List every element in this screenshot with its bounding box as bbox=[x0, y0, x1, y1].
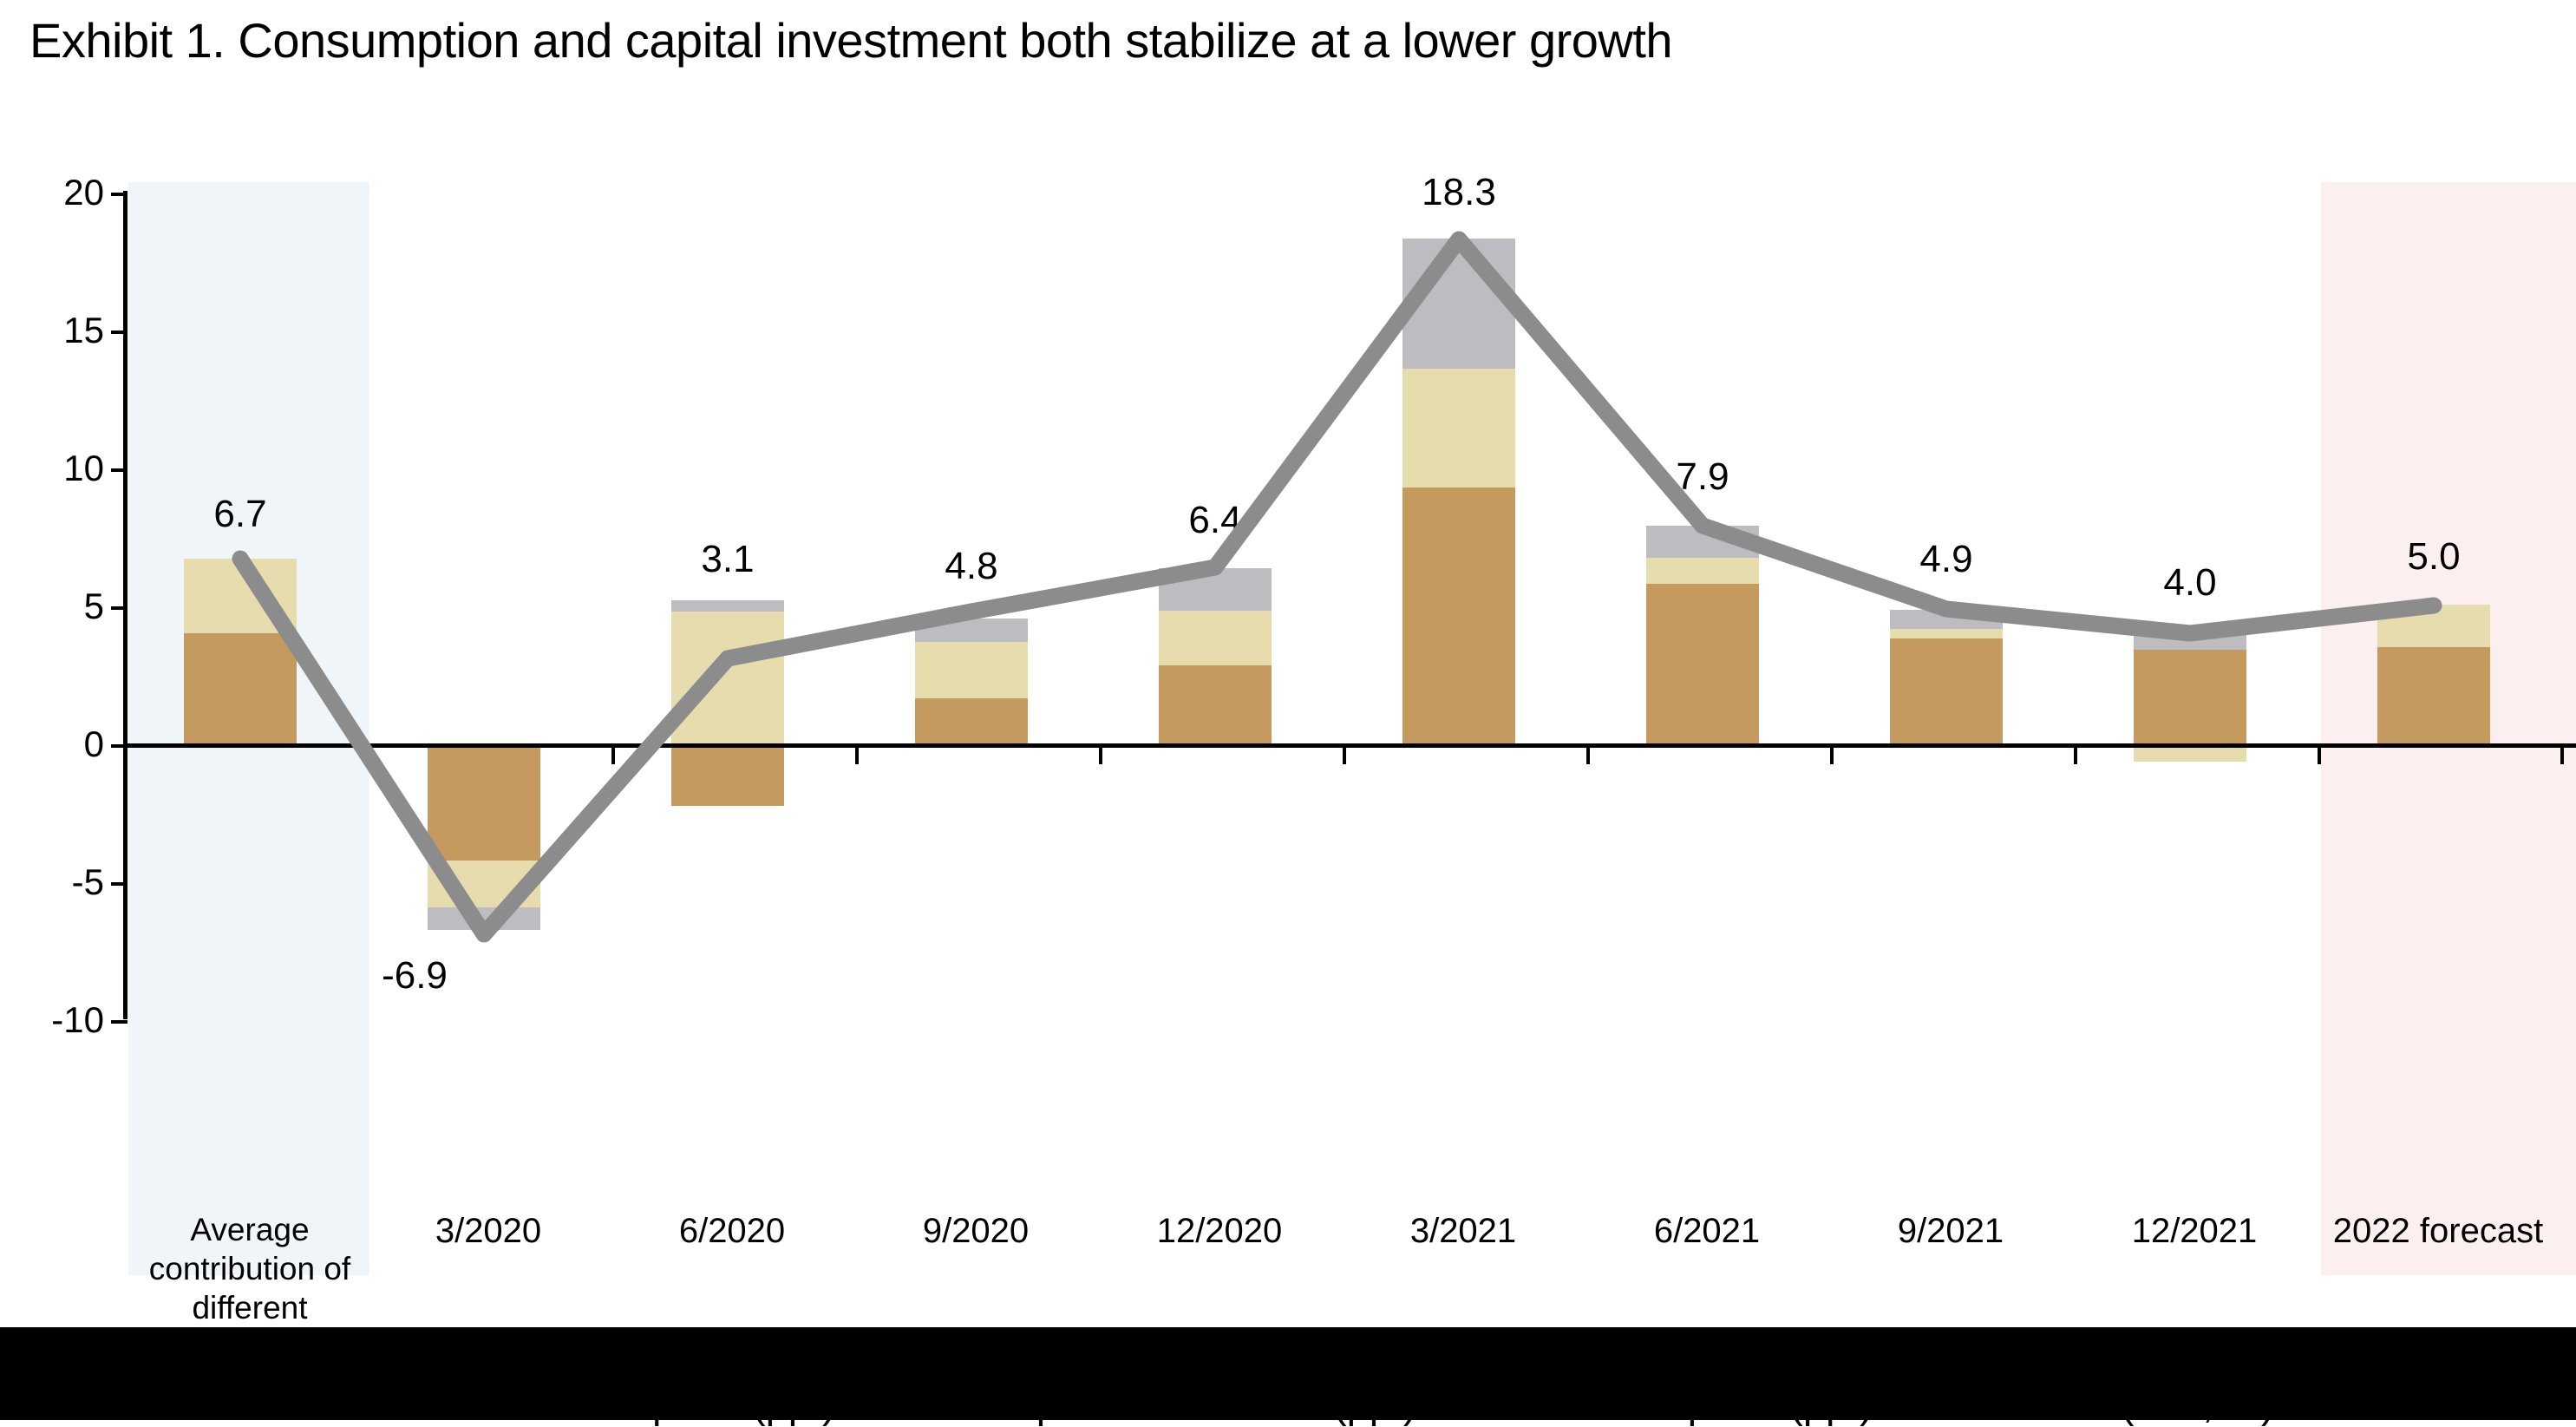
y-tick-10 bbox=[111, 468, 127, 472]
bar-segment-consumption bbox=[1890, 638, 2003, 743]
x-axis-label-5: 3/2021 bbox=[1355, 1210, 1572, 1253]
x-tick-2 bbox=[855, 748, 859, 764]
bar-segment-consumption bbox=[2377, 647, 2490, 743]
y-axis-label-0: 0 bbox=[0, 723, 104, 765]
bar-segment-consumption bbox=[1159, 665, 1272, 743]
x-tick-7 bbox=[2074, 748, 2077, 764]
x-tick-4 bbox=[1343, 748, 1346, 764]
data-label-6: 7.9 bbox=[1633, 455, 1772, 499]
bar-segment-net-exports bbox=[1159, 568, 1272, 611]
bar-segment-capital-investment bbox=[1890, 629, 2003, 638]
data-label-0: 6.7 bbox=[171, 493, 310, 536]
data-label-7: 4.9 bbox=[1877, 538, 2016, 581]
bar-segment-net-exports bbox=[1646, 526, 1759, 558]
y-axis-label-20: 20 bbox=[0, 172, 104, 213]
y-tick-15 bbox=[111, 331, 127, 334]
data-label-8: 4.0 bbox=[2121, 561, 2259, 605]
bar-segment-capital-investment bbox=[671, 612, 784, 743]
x-tick-6 bbox=[1830, 748, 1834, 764]
x-tick-1 bbox=[611, 748, 615, 764]
x-axis-label-7: 9/2021 bbox=[1842, 1210, 2059, 1253]
y-axis-label-15: 15 bbox=[0, 310, 104, 351]
bar-segment-capital-investment bbox=[1646, 558, 1759, 584]
x-axis-label-1: 3/2020 bbox=[380, 1210, 597, 1253]
bar-segment-net-exports bbox=[915, 619, 1028, 642]
x-tick-0 bbox=[368, 748, 371, 764]
y-axis-label-neg5: -5 bbox=[0, 861, 104, 903]
data-label-9: 5.0 bbox=[2364, 535, 2503, 579]
bar-segment-consumption bbox=[184, 633, 297, 743]
chart-page: Exhibit 1. Consumption and capital inves… bbox=[0, 0, 2576, 1420]
y-tick-20 bbox=[111, 193, 127, 196]
x-axis-label-2: 6/2020 bbox=[624, 1210, 840, 1253]
x-tick-3 bbox=[1099, 748, 1102, 764]
bar-segment-capital-investment bbox=[1402, 369, 1515, 488]
bar-segment-capital-investment bbox=[428, 861, 540, 907]
bar-segment-consumption bbox=[915, 698, 1028, 743]
y-axis-label-5: 5 bbox=[0, 586, 104, 627]
x-axis-label-3: 9/2020 bbox=[867, 1210, 1084, 1253]
page-title: Exhibit 1. Consumption and capital inves… bbox=[29, 12, 2024, 69]
data-label-5: 18.3 bbox=[1385, 171, 1533, 214]
bar-segment-consumption bbox=[1402, 488, 1515, 743]
x-axis-label-4: 12/2020 bbox=[1111, 1210, 1328, 1253]
bar-segment-capital-investment bbox=[184, 559, 297, 633]
y-tick-neg5 bbox=[111, 882, 127, 886]
bar-segment-capital-investment bbox=[1159, 611, 1272, 665]
bar-segment-consumption bbox=[671, 748, 784, 806]
y-axis-label-10: 10 bbox=[0, 448, 104, 489]
bar-segment-net-exports bbox=[1890, 610, 2003, 629]
x-tick-9 bbox=[2560, 748, 2564, 764]
bar-segment-consumption bbox=[2134, 650, 2246, 743]
y-axis-line bbox=[123, 191, 127, 1019]
x-tick-5 bbox=[1586, 748, 1590, 764]
data-label-4: 6.4 bbox=[1146, 499, 1285, 542]
data-label-3: 4.8 bbox=[902, 545, 1041, 588]
bar-segment-net-exports bbox=[1402, 239, 1515, 369]
x-axis-label-8: 12/2021 bbox=[2086, 1210, 2303, 1253]
bar-segment-net-exports bbox=[2134, 625, 2246, 650]
bar-segment-consumption bbox=[1646, 584, 1759, 743]
data-label-2: 3.1 bbox=[658, 538, 797, 581]
bar-segment-capital-investment bbox=[2134, 748, 2246, 762]
x-axis-label-6: 6/2021 bbox=[1599, 1210, 1815, 1253]
y-tick-neg10 bbox=[111, 1020, 127, 1024]
bottom-bar bbox=[0, 1327, 2576, 1420]
x-axis-label-9: 2022 forecast bbox=[2330, 1210, 2547, 1253]
bar-segment-capital-investment bbox=[2377, 605, 2490, 647]
bar-segment-net-exports bbox=[428, 907, 540, 930]
data-label-1: -6.9 bbox=[345, 954, 484, 998]
y-axis-label-neg10: -10 bbox=[0, 999, 104, 1041]
chart-plot-area: 20 15 10 5 0 -5 -10 6.7 -6.9 3.1 bbox=[0, 182, 2576, 1310]
x-tick-8 bbox=[2318, 748, 2321, 764]
bar-segment-consumption bbox=[428, 748, 540, 861]
y-tick-5 bbox=[111, 606, 127, 610]
bar-segment-net-exports bbox=[671, 600, 784, 612]
bar-segment-capital-investment bbox=[915, 642, 1028, 698]
